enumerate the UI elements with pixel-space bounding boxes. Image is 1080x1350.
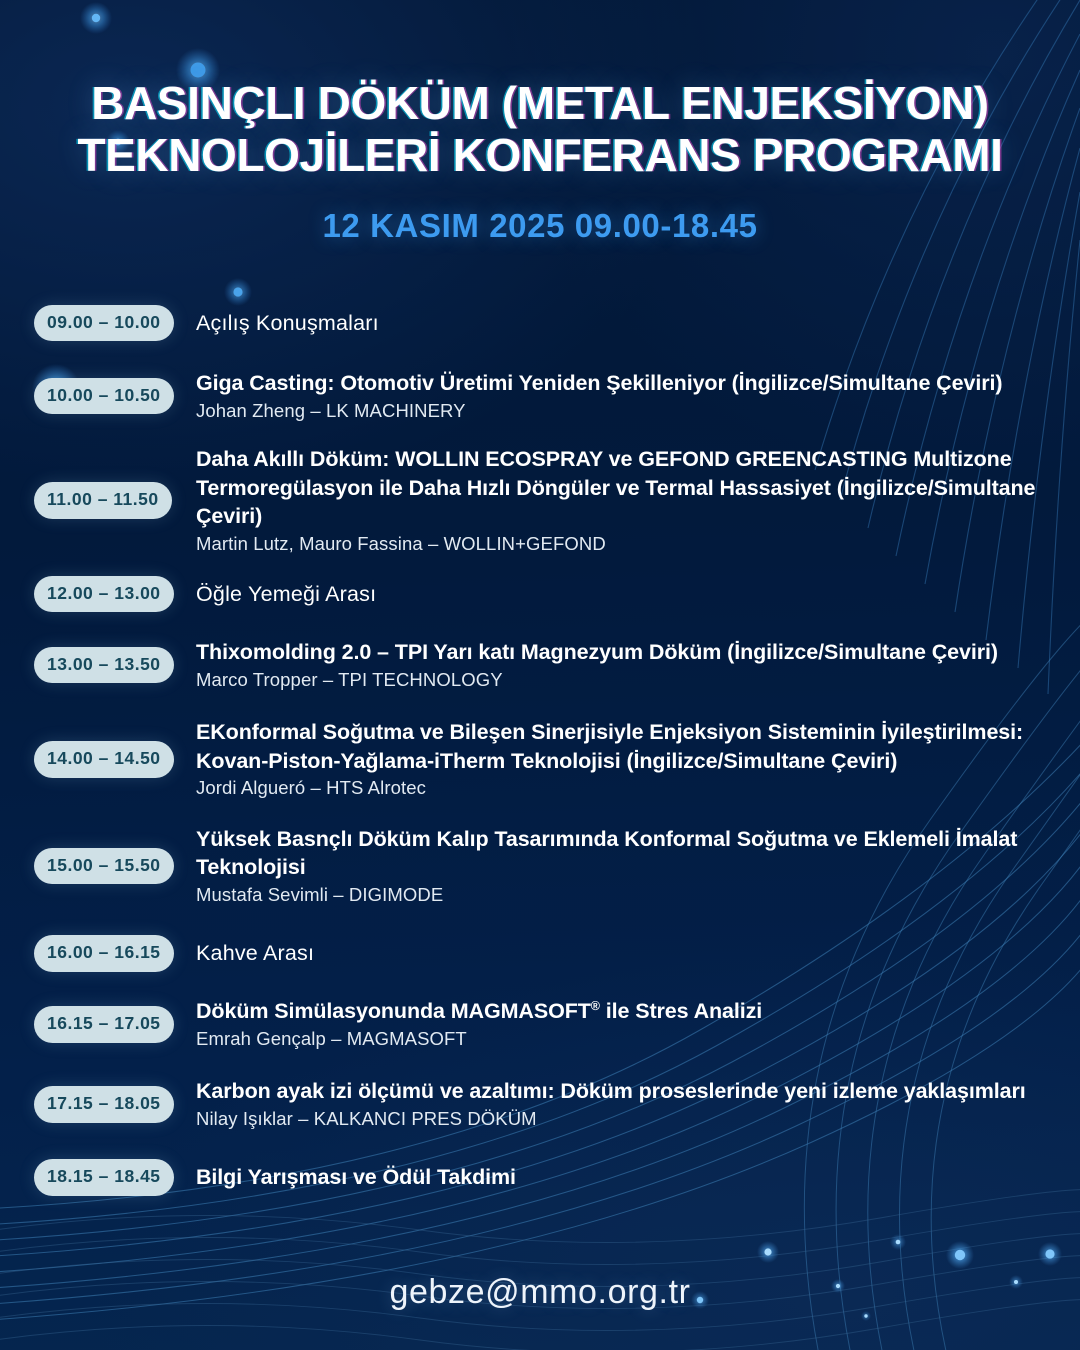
time-slot-cell: 12.00 – 13.00 bbox=[34, 576, 184, 613]
session-body: Yüksek Basnçlı Döküm Kalıp Tasarımında K… bbox=[184, 825, 1054, 908]
schedule-row: 11.00 – 11.50 Daha Akıllı Döküm: WOLLIN … bbox=[34, 445, 1054, 556]
poster-canvas: BASINÇLI DÖKÜM (METAL ENJEKSİYON) TEKNOL… bbox=[0, 0, 1080, 1350]
session-speaker: Mustafa Sevimli – DIGIMODE bbox=[196, 883, 1054, 907]
time-badge: 10.00 – 10.50 bbox=[34, 378, 174, 415]
time-badge: 13.00 – 13.50 bbox=[34, 647, 174, 684]
session-title: Bilgi Yarışması ve Ödül Takdimi bbox=[196, 1163, 1054, 1192]
time-slot-cell: 09.00 – 10.00 bbox=[34, 305, 184, 342]
event-date-time: 12 KASIM 2025 09.00-18.45 bbox=[0, 207, 1080, 245]
page-title: BASINÇLI DÖKÜM (METAL ENJEKSİYON) TEKNOL… bbox=[0, 78, 1080, 181]
session-body: Öğle Yemeği Arası bbox=[184, 580, 1054, 609]
time-slot-cell: 10.00 – 10.50 bbox=[34, 378, 184, 415]
schedule-row: 18.15 – 18.45 Bilgi Yarışması ve Ödül Ta… bbox=[34, 1155, 1054, 1199]
poster-header: BASINÇLI DÖKÜM (METAL ENJEKSİYON) TEKNOL… bbox=[0, 78, 1080, 245]
session-body: Daha Akıllı Döküm: WOLLIN ECOSPRAY ve GE… bbox=[184, 445, 1054, 556]
schedule-row: 14.00 – 14.50 EKonformal Soğutma ve Bile… bbox=[34, 718, 1054, 801]
session-title: Daha Akıllı Döküm: WOLLIN ECOSPRAY ve GE… bbox=[196, 445, 1054, 531]
session-title: EKonformal Soğutma ve Bileşen Sinerjisiy… bbox=[196, 718, 1054, 775]
time-slot-cell: 16.15 – 17.05 bbox=[34, 1006, 184, 1043]
schedule-list: 09.00 – 10.00 Açılış Konuşmaları 10.00 –… bbox=[34, 301, 1054, 1199]
session-speaker: Nilay Işıklar – KALKANCI PRES DÖKÜM bbox=[196, 1107, 1054, 1131]
session-speaker: Martin Lutz, Mauro Fassina – WOLLIN+GEFO… bbox=[196, 532, 1054, 556]
schedule-row: 10.00 – 10.50 Giga Casting: Otomotiv Üre… bbox=[34, 369, 1054, 423]
time-badge: 18.15 – 18.45 bbox=[34, 1159, 174, 1196]
contact-email-link[interactable]: gebze@mmo.org.tr bbox=[389, 1273, 690, 1311]
time-slot-cell: 15.00 – 15.50 bbox=[34, 848, 184, 885]
session-speaker: Johan Zheng – LK MACHINERY bbox=[196, 399, 1054, 423]
time-badge: 15.00 – 15.50 bbox=[34, 848, 174, 885]
session-speaker: Jordi Algueró – HTS Alrotec bbox=[196, 776, 1054, 800]
session-title: Açılış Konuşmaları bbox=[196, 309, 1054, 338]
schedule-row: 12.00 – 13.00 Öğle Yemeği Arası bbox=[34, 572, 1054, 616]
session-body: Karbon ayak izi ölçümü ve azaltımı: Dökü… bbox=[184, 1077, 1054, 1131]
title-line-1: BASINÇLI DÖKÜM (METAL ENJEKSİYON) bbox=[46, 78, 1034, 130]
time-badge: 14.00 – 14.50 bbox=[34, 741, 174, 778]
time-slot-cell: 16.00 – 16.15 bbox=[34, 935, 184, 972]
time-slot-cell: 18.15 – 18.45 bbox=[34, 1159, 184, 1196]
session-body: Thixomolding 2.0 – TPI Yarı katı Magnezy… bbox=[184, 638, 1054, 692]
session-body: Döküm Simülasyonunda MAGMASOFT® ile Stre… bbox=[184, 997, 1054, 1051]
time-badge: 17.15 – 18.05 bbox=[34, 1086, 174, 1123]
session-title: Döküm Simülasyonunda MAGMASOFT® ile Stre… bbox=[196, 997, 1054, 1026]
session-title: Öğle Yemeği Arası bbox=[196, 580, 1054, 609]
session-body: Kahve Arası bbox=[184, 939, 1054, 968]
time-slot-cell: 13.00 – 13.50 bbox=[34, 647, 184, 684]
time-badge: 12.00 – 13.00 bbox=[34, 576, 174, 613]
schedule-row: 15.00 – 15.50 Yüksek Basnçlı Döküm Kalıp… bbox=[34, 825, 1054, 908]
schedule-row: 13.00 – 13.50 Thixomolding 2.0 – TPI Yar… bbox=[34, 638, 1054, 692]
schedule-row: 16.00 – 16.15 Kahve Arası bbox=[34, 931, 1054, 975]
session-title: Giga Casting: Otomotiv Üretimi Yeniden Ş… bbox=[196, 369, 1054, 398]
time-slot-cell: 17.15 – 18.05 bbox=[34, 1086, 184, 1123]
title-line-2: TEKNOLOJİLERİ KONFERANS PROGRAMI bbox=[46, 130, 1034, 182]
poster-footer: gebze@mmo.org.tr bbox=[0, 1273, 1080, 1312]
session-title: Kahve Arası bbox=[196, 939, 1054, 968]
time-badge: 09.00 – 10.00 bbox=[34, 305, 174, 342]
session-body: Bilgi Yarışması ve Ödül Takdimi bbox=[184, 1163, 1054, 1192]
schedule-row: 09.00 – 10.00 Açılış Konuşmaları bbox=[34, 301, 1054, 345]
session-title: Yüksek Basnçlı Döküm Kalıp Tasarımında K… bbox=[196, 825, 1054, 882]
time-slot-cell: 14.00 – 14.50 bbox=[34, 741, 184, 778]
session-body: EKonformal Soğutma ve Bileşen Sinerjisiy… bbox=[184, 718, 1054, 801]
session-speaker: Emrah Gençalp – MAGMASOFT bbox=[196, 1027, 1054, 1051]
registered-trademark-icon: ® bbox=[591, 999, 600, 1013]
session-title: Karbon ayak izi ölçümü ve azaltımı: Dökü… bbox=[196, 1077, 1054, 1106]
time-slot-cell: 11.00 – 11.50 bbox=[34, 482, 184, 519]
schedule-row: 17.15 – 18.05 Karbon ayak izi ölçümü ve … bbox=[34, 1077, 1054, 1131]
session-body: Açılış Konuşmaları bbox=[184, 309, 1054, 338]
session-body: Giga Casting: Otomotiv Üretimi Yeniden Ş… bbox=[184, 369, 1054, 423]
time-badge: 11.00 – 11.50 bbox=[34, 482, 172, 519]
session-title: Thixomolding 2.0 – TPI Yarı katı Magnezy… bbox=[196, 638, 1054, 667]
schedule-row: 16.15 – 17.05 Döküm Simülasyonunda MAGMA… bbox=[34, 997, 1054, 1051]
session-speaker: Marco Tropper – TPI TECHNOLOGY bbox=[196, 668, 1054, 692]
time-badge: 16.00 – 16.15 bbox=[34, 935, 174, 972]
time-badge: 16.15 – 17.05 bbox=[34, 1006, 174, 1043]
